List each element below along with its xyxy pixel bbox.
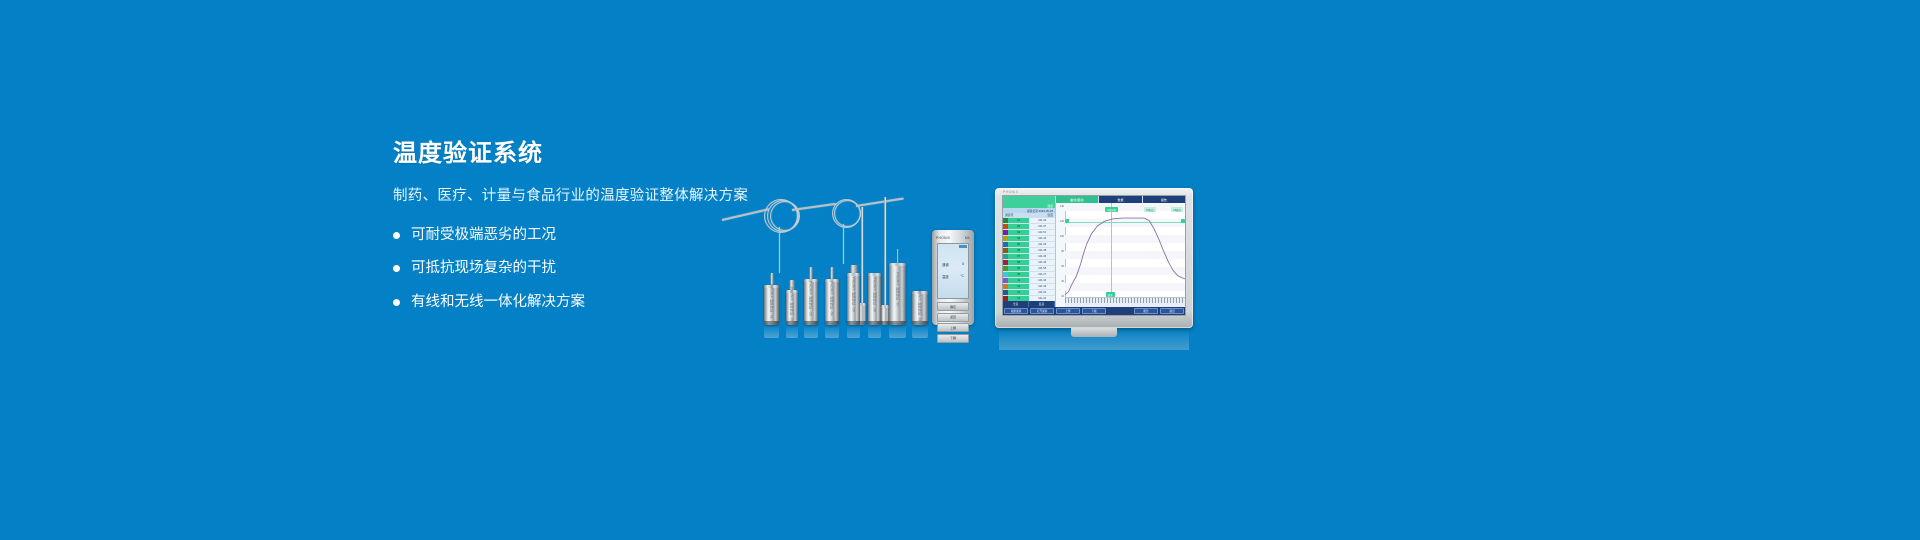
channel-number: 08: [1008, 261, 1029, 264]
chart-x-axis: [1065, 297, 1185, 307]
sensor-probe: PHONIX 温度验证 -05: [847, 265, 860, 325]
software-tabbar[interactable]: 曲线(图表) 数据 报告: [1003, 196, 1185, 203]
channel-number: 05: [1008, 243, 1029, 246]
y-tick-label: 20: [1061, 295, 1064, 298]
sensor-probe: PHONIX 温度验证 -01: [764, 273, 779, 325]
needle-probe-tall: [860, 207, 864, 325]
exit-button[interactable]: 退出: [1160, 308, 1184, 314]
handheld-screen: 通道 8 温度 ℃: [937, 243, 969, 299]
new-test-button[interactable]: 新建试验: [1004, 308, 1028, 314]
temperature-chart: 14012010080604020: [1056, 203, 1185, 307]
handheld-branding: PHONIX M1: [932, 236, 974, 240]
channel-value: 121.55: [1029, 266, 1055, 271]
software-window: 曲线(图表) 数据 报告 通道 试验记录 2023-05-18 通道号 温度: [1002, 195, 1186, 316]
channel-value: 121.51: [1029, 230, 1055, 235]
channel-value: 121.37: [1029, 224, 1055, 229]
y-tick-label: 120: [1060, 220, 1064, 223]
upload-button[interactable]: 上传: [1056, 308, 1080, 314]
handheld-row-value: ℃: [960, 274, 964, 279]
channel-number: 13: [1008, 291, 1029, 294]
tabbar-spacer: [1003, 196, 1055, 203]
channel-value: 121.39: [1029, 284, 1055, 289]
channel-number: 01: [1008, 219, 1029, 222]
handheld-row-label: 通道: [942, 262, 949, 267]
probe-label: PHONIX 温度验证 -04: [830, 281, 835, 315]
probe-label: PHONIX 温度验证 -07: [895, 272, 900, 306]
coiled-cable-left-icon: [722, 193, 832, 241]
chart-plot-area: 开始灭菌 F0起点 F0终点 结束: [1065, 203, 1185, 298]
handheld-model-label: M1: [965, 236, 970, 240]
channel-value: 121.29: [1029, 242, 1055, 247]
channel-value: 121.40: [1029, 260, 1055, 265]
feature-label: 可耐受极端恶劣的工况: [411, 226, 556, 245]
software-toolbar[interactable]: 新建试验 打开试验 上传 下载 报告 退出: [1003, 307, 1185, 315]
probe-label: PHONIX 温度验证 -03: [809, 281, 814, 315]
monitor-bezel: PHONIX 曲线(图表) 数据 报告 通道 试验记录 2023-05-18: [995, 188, 1193, 328]
channel-number: 03: [1008, 231, 1029, 234]
channel-number: 10: [1008, 273, 1029, 276]
needle-probe-taller: [883, 197, 887, 325]
monitor-reflection: [999, 328, 1189, 350]
sensor-probe: PHONIX 温度验证 -06: [868, 267, 881, 325]
channel-list[interactable]: 01121.4202121.3703121.5104121.4405121.29…: [1003, 218, 1055, 302]
toolbar-spacer: [1108, 308, 1132, 314]
coiled-cable-right-icon: [818, 197, 928, 241]
channel-number: 12: [1008, 285, 1029, 288]
monitor-brand-label: PHONIX: [1003, 190, 1018, 194]
chart-curve: [1065, 203, 1185, 298]
handheld-reader-device[interactable]: PHONIX M1 通道 8 温度 ℃ 确定 返回 上翻 下翻: [932, 230, 974, 325]
handheld-row-label: 温度: [942, 274, 949, 279]
y-tick-label: 100: [1060, 235, 1064, 238]
probe-label: PHONIX 温度验证 -06: [872, 277, 877, 311]
handheld-row-value: 8: [962, 262, 964, 267]
hero-banner: 温度验证系统 制药、医疗、计量与食品行业的温度验证整体解决方案 可耐受极端恶劣的…: [0, 0, 1920, 540]
handheld-key[interactable]: 上翻: [937, 323, 969, 332]
y-tick-label: 140: [1060, 205, 1064, 208]
channel-number: 07: [1008, 255, 1029, 258]
channel-number: 06: [1008, 249, 1029, 252]
software-body: 通道 试验记录 2023-05-18 通道号 温度 01121.4202121.…: [1003, 203, 1185, 307]
tab-chart[interactable]: 曲线(图表): [1056, 196, 1098, 203]
channel-value: 121.44: [1029, 236, 1055, 241]
channel-number: 02: [1008, 225, 1029, 228]
y-tick-label: 80: [1061, 250, 1064, 253]
tab-data[interactable]: 数据: [1099, 196, 1141, 203]
probe-label: PHONIX 温度验证 -01: [769, 284, 774, 318]
y-tick-label: 40: [1061, 280, 1064, 283]
sensor-probe: PHONIX 温度验证 -03: [804, 267, 818, 325]
channel-number: 14: [1008, 297, 1029, 300]
feature-label: 有线和无线一体化解决方案: [411, 293, 585, 312]
sensor-probe: PHONIX 温度验证 -04: [825, 267, 839, 325]
bullet-dot-icon: [393, 232, 400, 239]
channel-sidebar: 通道 试验记录 2023-05-18 通道号 温度 01121.4202121.…: [1003, 203, 1056, 307]
sensor-probe: PHONIX 温度验证 -08: [912, 291, 928, 325]
channel-number: 04: [1008, 237, 1029, 240]
channel-value: 121.42: [1029, 218, 1055, 223]
channel-value: 121.52: [1029, 290, 1055, 295]
feature-label: 可抵抗现场复杂的干扰: [411, 259, 556, 278]
channel-value: 121.48: [1029, 248, 1055, 253]
handheld-screen-row: 通道 8: [942, 262, 964, 267]
open-test-button[interactable]: 打开试验: [1030, 308, 1054, 314]
download-button[interactable]: 下载: [1082, 308, 1106, 314]
handheld-brand-label: PHONIX: [936, 236, 950, 240]
handheld-keypad[interactable]: 确定 返回 上翻 下翻: [937, 302, 969, 320]
tab-report[interactable]: 报告: [1143, 196, 1185, 203]
channel-number: 09: [1008, 267, 1029, 270]
handheld-screen-row: 温度 ℃: [942, 274, 964, 279]
sensor-probe: PHONIX 温度验证 -02: [786, 280, 798, 325]
handheld-key[interactable]: 返回: [937, 313, 969, 322]
product-photo: PHONIX 温度验证 -01 PHONIX 温度验证 -02 PHONIX 温…: [700, 125, 1260, 325]
handheld-key[interactable]: 下翻: [937, 334, 969, 343]
monitor-device: PHONIX 曲线(图表) 数据 报告 通道 试验记录 2023-05-18: [995, 188, 1193, 328]
probe-label: PHONIX 温度验证 -05: [851, 277, 856, 311]
handheld-status-bar: [959, 245, 967, 248]
channel-value: 121.31: [1029, 296, 1055, 301]
handheld-key[interactable]: 确定: [937, 302, 969, 311]
channel-value: 121.33: [1029, 254, 1055, 259]
channel-number: 11: [1008, 279, 1029, 282]
probe-label: PHONIX 温度验证 -08: [918, 287, 923, 321]
bullet-dot-icon: [393, 299, 400, 306]
bullet-dot-icon: [393, 265, 400, 272]
probe-label: PHONIX 温度验证 -02: [790, 287, 795, 321]
channel-value: 121.46: [1029, 278, 1055, 283]
channel-value: 121.27: [1029, 272, 1055, 277]
sensor-probe: PHONIX 温度验证 -07: [889, 251, 906, 325]
y-tick-label: 60: [1061, 265, 1064, 268]
report-button[interactable]: 报告: [1134, 308, 1158, 314]
